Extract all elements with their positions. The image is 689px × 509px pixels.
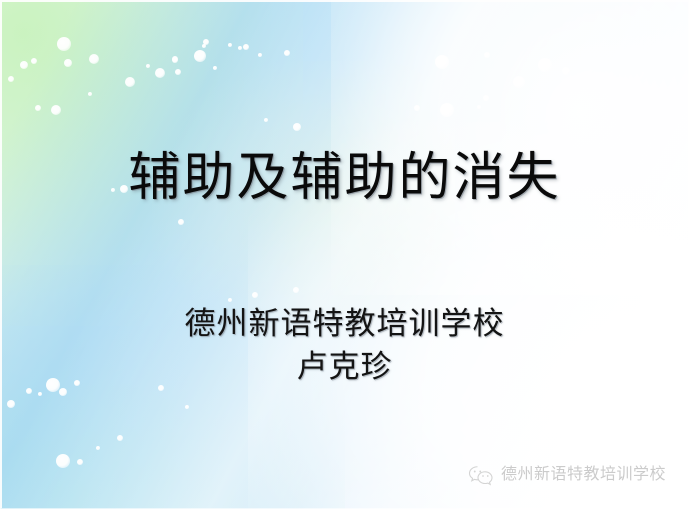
bokeh-circle xyxy=(57,37,71,51)
bokeh-circle xyxy=(213,66,217,70)
wechat-icon xyxy=(468,464,494,486)
bokeh-circle xyxy=(252,292,258,298)
bokeh-circle xyxy=(264,118,268,122)
bokeh-circle xyxy=(64,59,72,67)
watermark: 德州新语特教培训学校 xyxy=(468,464,666,486)
bokeh-circle xyxy=(228,298,232,302)
bokeh-circle xyxy=(88,92,92,96)
subtitle-block: 德州新语特教培训学校 卢克珍 xyxy=(0,303,689,389)
bokeh-circle xyxy=(146,64,150,68)
bokeh-circle xyxy=(155,68,165,78)
bokeh-circle xyxy=(562,67,570,75)
subtitle-line-organization: 德州新语特教培训学校 xyxy=(0,303,689,346)
watermark-text: 德州新语特教培训学校 xyxy=(501,467,666,483)
bokeh-circle xyxy=(185,405,189,409)
title-block: 辅助及辅助的消失 xyxy=(0,150,689,208)
bokeh-circle xyxy=(20,61,28,69)
bokeh-circle xyxy=(483,95,489,101)
bokeh-circle xyxy=(178,219,184,225)
bokeh-circle xyxy=(89,54,99,64)
bokeh-circle xyxy=(513,76,525,88)
bokeh-circle xyxy=(31,58,37,64)
bokeh-circle xyxy=(51,105,61,115)
bokeh-circle xyxy=(7,400,15,408)
bokeh-circle xyxy=(243,44,249,50)
bokeh-circle xyxy=(8,76,14,82)
bokeh-circle xyxy=(56,454,70,468)
bokeh-circle xyxy=(228,43,232,47)
bokeh-circle xyxy=(35,105,41,111)
presentation-slide: 辅助及辅助的消失 德州新语特教培训学校 卢克珍 德州新语特教培训学校 xyxy=(0,0,689,509)
bokeh-circle xyxy=(414,105,420,111)
bokeh-circle xyxy=(484,52,490,58)
bokeh-circle xyxy=(435,55,449,69)
bokeh-circle xyxy=(238,46,242,50)
bokeh-circle xyxy=(77,459,83,465)
bokeh-circle xyxy=(26,388,32,394)
bokeh-circle xyxy=(38,392,42,396)
background-bokeh-circles xyxy=(0,0,689,509)
bokeh-circle xyxy=(284,50,290,56)
bokeh-circle xyxy=(440,103,454,117)
bokeh-circle xyxy=(202,44,206,48)
bokeh-circle xyxy=(293,123,301,131)
bokeh-circle xyxy=(477,105,481,109)
bokeh-circle xyxy=(538,58,552,72)
bokeh-circle xyxy=(117,435,123,441)
bokeh-circle xyxy=(125,77,135,87)
bokeh-circle xyxy=(175,69,181,75)
bokeh-circle xyxy=(293,287,299,293)
bokeh-circle xyxy=(96,446,100,450)
subtitle-line-presenter: 卢克珍 xyxy=(0,346,689,389)
bokeh-circle xyxy=(194,50,206,62)
bokeh-circle xyxy=(59,388,67,396)
slide-title: 辅助及辅助的消失 xyxy=(128,150,560,208)
bokeh-circle xyxy=(258,53,262,57)
bokeh-circle xyxy=(172,57,178,63)
